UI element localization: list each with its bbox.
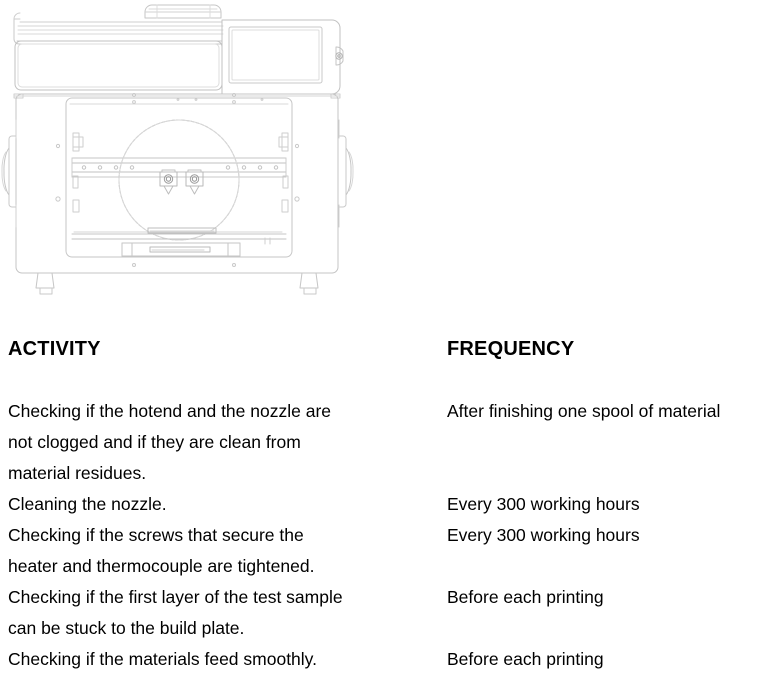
touchscreen-housing xyxy=(222,20,340,94)
touchscreen-panel xyxy=(229,27,322,83)
nozzle-right xyxy=(186,170,203,194)
build-plate xyxy=(72,228,286,239)
column-header-frequency: FREQUENCY xyxy=(447,338,574,361)
table-body: Checking if the hotend and the nozzle ar… xyxy=(0,396,770,666)
frequency-line-spacer xyxy=(447,458,767,489)
frequency-column: After finishing one spool of material Ev… xyxy=(447,396,767,675)
maintenance-schedule-table: ACTIVITY FREQUENCY Checking if the hoten… xyxy=(0,330,770,666)
activity-line: Cleaning the nozzle. xyxy=(8,489,438,520)
printer-drawing-svg xyxy=(0,0,770,320)
nozzle-left xyxy=(160,170,177,194)
power-button xyxy=(336,47,343,65)
activity-line: Checking if the materials feed smoothly. xyxy=(8,644,438,675)
frequency-line-spacer xyxy=(447,551,767,582)
activity-line: Checking if the first layer of the test … xyxy=(8,582,438,613)
rail-bolt-holes xyxy=(82,166,277,169)
foot-left xyxy=(36,273,54,294)
upper-door-panel xyxy=(15,41,222,90)
activity-column: Checking if the hotend and the nozzle ar… xyxy=(8,396,438,675)
side-handle-right xyxy=(339,120,353,227)
foot-right xyxy=(300,273,318,294)
activity-line: Checking if the hotend and the nozzle ar… xyxy=(8,396,438,427)
frequency-line: After finishing one spool of material xyxy=(447,396,767,427)
frequency-line: Every 300 working hours xyxy=(447,489,767,520)
column-header-activity: ACTIVITY xyxy=(8,338,101,361)
side-handle-left xyxy=(2,120,16,227)
activity-line: can be stuck to the build plate. xyxy=(8,613,438,644)
gantry-rail xyxy=(72,158,286,177)
activity-line: not clogged and if they are clean from xyxy=(8,427,438,458)
activity-line: Checking if the screws that secure the xyxy=(8,520,438,551)
frequency-line: Before each printing xyxy=(447,582,767,613)
table-header-row: ACTIVITY FREQUENCY xyxy=(0,330,770,376)
activity-line: material residues. xyxy=(8,458,438,489)
top-vent-cap xyxy=(145,5,221,18)
printer-technical-drawing xyxy=(0,0,770,320)
z-stage-mechanism xyxy=(122,238,270,256)
frequency-line: Before each printing xyxy=(447,644,767,675)
frequency-line-spacer xyxy=(447,427,767,458)
frequency-line: Every 300 working hours xyxy=(447,520,767,551)
frequency-line-spacer xyxy=(447,613,767,644)
activity-line: heater and thermocouple are tightened. xyxy=(8,551,438,582)
nozzle-detail-circle xyxy=(119,120,239,240)
